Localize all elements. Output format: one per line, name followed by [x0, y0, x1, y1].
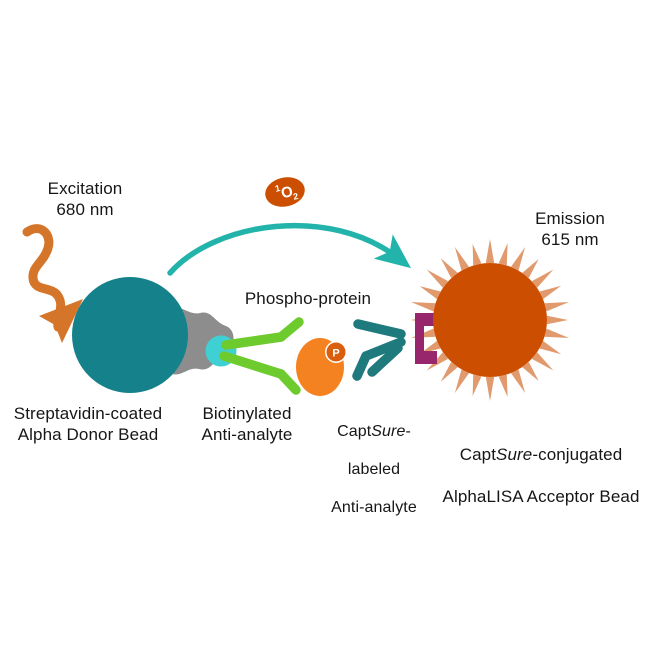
energy-transfer-arc [170, 226, 398, 273]
singlet-oxygen-badge: 1 O 2 [262, 174, 307, 211]
antibody-lower-arm [224, 356, 281, 374]
alphalisa-assay-diagram: 1 O 2 [0, 0, 650, 650]
acceptor-bead-text-a: Capt [460, 445, 496, 464]
antibody-lower-tip [281, 374, 296, 390]
captsure-antibody-text-line2: labeled [348, 461, 400, 478]
acceptor-bead-text-line2: AlphaLISA Acceptor Bead [443, 487, 640, 506]
antibody-upper-tip [281, 322, 299, 337]
captsure-antibody-text-sure: Sure [371, 423, 405, 440]
teal-antibody-lower-tip [357, 356, 366, 376]
teal-antibody-upper-arm [358, 324, 401, 334]
captsure-antibody-text-line3: Anti-analyte [331, 499, 417, 516]
acceptor-bead-label: CaptSure-conjugated AlphaLISA Acceptor B… [432, 423, 650, 507]
phospho-protein: P [296, 338, 347, 396]
emission-label: Emission 615 nm [508, 208, 632, 250]
captsure-antibody-text-a: Capt [337, 423, 371, 440]
energy-arc-path [170, 226, 398, 273]
alpha-donor-bead [72, 277, 188, 393]
phospho-protein-label: Phospho-protein [228, 288, 388, 309]
biotinylated-anti-analyte-antibody [224, 322, 299, 390]
acceptor-bead-text-c: -conjugated [532, 445, 622, 464]
antibody-upper-arm [226, 337, 281, 345]
diagram-graphics: 1 O 2 [0, 0, 650, 650]
biotinylated-antibody-label: Biotinylated Anti-analyte [186, 403, 308, 445]
captsure-antibody-text-c: - [405, 423, 410, 440]
captsure-antibody-label: CaptSure- labeled Anti-analyte [316, 403, 432, 517]
phosphate-badge-label: P [332, 348, 339, 360]
acceptor-bead-text-sure: Sure [496, 445, 532, 464]
donor-bead-label: Streptavidin-coated Alpha Donor Bead [0, 403, 176, 445]
alphalisa-acceptor-bead [433, 263, 547, 377]
excitation-label: Excitation 680 nm [18, 178, 152, 220]
captsure-labeled-anti-analyte-antibody [357, 324, 401, 376]
